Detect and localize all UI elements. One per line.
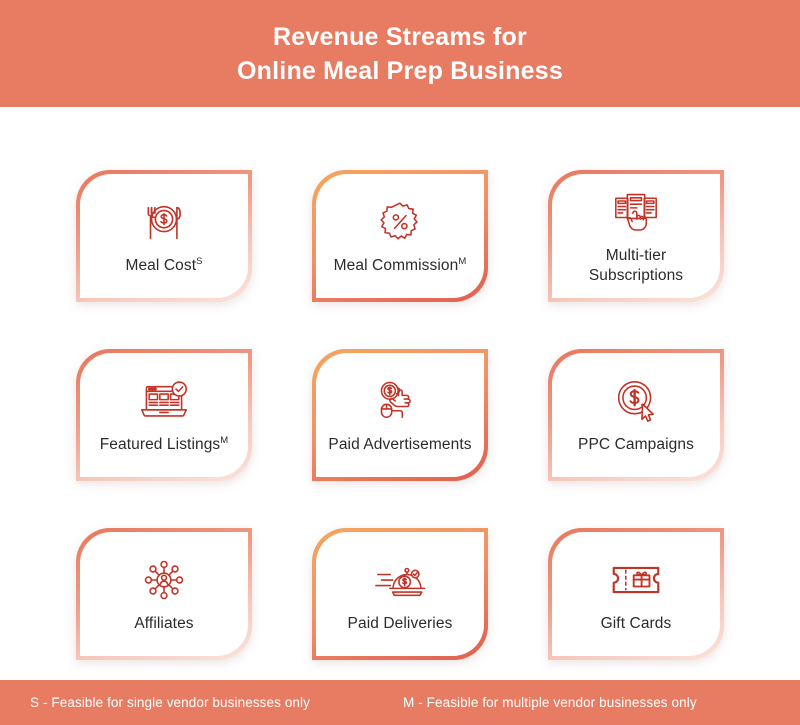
card-label: Gift Cards — [601, 614, 672, 634]
card-inner: Meal CommissionM — [316, 174, 484, 298]
dollar-coin-cursor-icon — [614, 376, 659, 426]
card-multi-tier-subscriptions[interactable]: Multi-tier Subscriptions — [548, 170, 724, 302]
card-ppc-campaigns[interactable]: PPC Campaigns — [548, 349, 724, 481]
card-label-text: Paid Deliveries — [348, 615, 453, 632]
card-label: Paid Advertisements — [328, 435, 471, 455]
card-border: PPC Campaigns — [548, 349, 724, 481]
card-label-text: Meal Commission — [334, 257, 459, 274]
card-label: PPC Campaigns — [578, 435, 694, 455]
plate-fork-knife-dollar-icon — [139, 197, 189, 247]
card-label-text: Paid Advertisements — [328, 436, 471, 453]
card-border: Meal CostS — [76, 170, 252, 302]
card-label: Featured ListingsM — [100, 435, 229, 455]
legend-multiple-vendor: M - Feasible for multiple vendor busines… — [403, 695, 697, 710]
card-label-superscript: M — [220, 435, 228, 446]
laptop-listings-check-icon — [139, 376, 189, 426]
card-label-text: Meal Cost — [125, 257, 196, 274]
card-paid-deliveries[interactable]: Paid Deliveries — [312, 528, 488, 660]
page-title-line-1: Revenue Streams for — [273, 20, 527, 54]
card-label-superscript: M — [458, 256, 466, 267]
card-inner: Meal CostS — [80, 174, 248, 298]
ticket-gift-icon — [610, 555, 662, 605]
card-inner: Paid Advertisements — [316, 353, 484, 477]
card-inner: Affiliates — [80, 532, 248, 656]
card-label: Paid Deliveries — [348, 614, 453, 634]
card-inner: Featured ListingsM — [80, 353, 248, 477]
card-label-text: Featured Listings — [100, 436, 221, 453]
card-label-text: Multi-tier Subscriptions — [589, 247, 683, 284]
card-border: Affiliates — [76, 528, 252, 660]
card-inner: PPC Campaigns — [552, 353, 720, 477]
card-meal-commission[interactable]: Meal CommissionM — [312, 170, 488, 302]
card-affiliates[interactable]: Affiliates — [76, 528, 252, 660]
card-border: Paid Deliveries — [312, 528, 488, 660]
fast-cloche-dollar-icon — [374, 555, 426, 605]
card-label: Meal CostS — [125, 256, 202, 276]
pricing-tiers-hand-click-icon — [612, 187, 660, 237]
hand-coin-mouse-icon — [375, 376, 425, 426]
footer-legend-bar: S - Feasible for single vendor businesse… — [0, 680, 800, 725]
card-gift-cards[interactable]: Gift Cards — [548, 528, 724, 660]
card-border: Gift Cards — [548, 528, 724, 660]
card-paid-advertisements[interactable]: Paid Advertisements — [312, 349, 488, 481]
header-banner: Revenue Streams for Online Meal Prep Bus… — [0, 0, 800, 107]
card-featured-listings[interactable]: Featured ListingsM — [76, 349, 252, 481]
card-label-text: Gift Cards — [601, 615, 672, 632]
card-label: Meal CommissionM — [334, 256, 467, 276]
card-label-superscript: S — [196, 256, 202, 267]
card-border: Featured ListingsM — [76, 349, 252, 481]
percent-badge-icon — [378, 197, 422, 247]
card-inner: Paid Deliveries — [316, 532, 484, 656]
card-border: Meal CommissionM — [312, 170, 488, 302]
card-meal-cost[interactable]: Meal CostS — [76, 170, 252, 302]
card-inner: Gift Cards — [552, 532, 720, 656]
card-border: Paid Advertisements — [312, 349, 488, 481]
card-label-text: Affiliates — [134, 615, 193, 632]
legend-single-vendor: S - Feasible for single vendor businesse… — [30, 695, 310, 710]
card-inner: Multi-tier Subscriptions — [552, 174, 720, 298]
page-title-line-2: Online Meal Prep Business — [237, 54, 563, 88]
card-border: Multi-tier Subscriptions — [548, 170, 724, 302]
card-label: Affiliates — [134, 614, 193, 634]
network-hub-nodes-icon — [142, 555, 186, 605]
card-label-text: PPC Campaigns — [578, 436, 694, 453]
revenue-streams-grid: Meal CostS Meal CommissionM — [0, 107, 800, 680]
card-label: Multi-tier Subscriptions — [558, 246, 714, 286]
